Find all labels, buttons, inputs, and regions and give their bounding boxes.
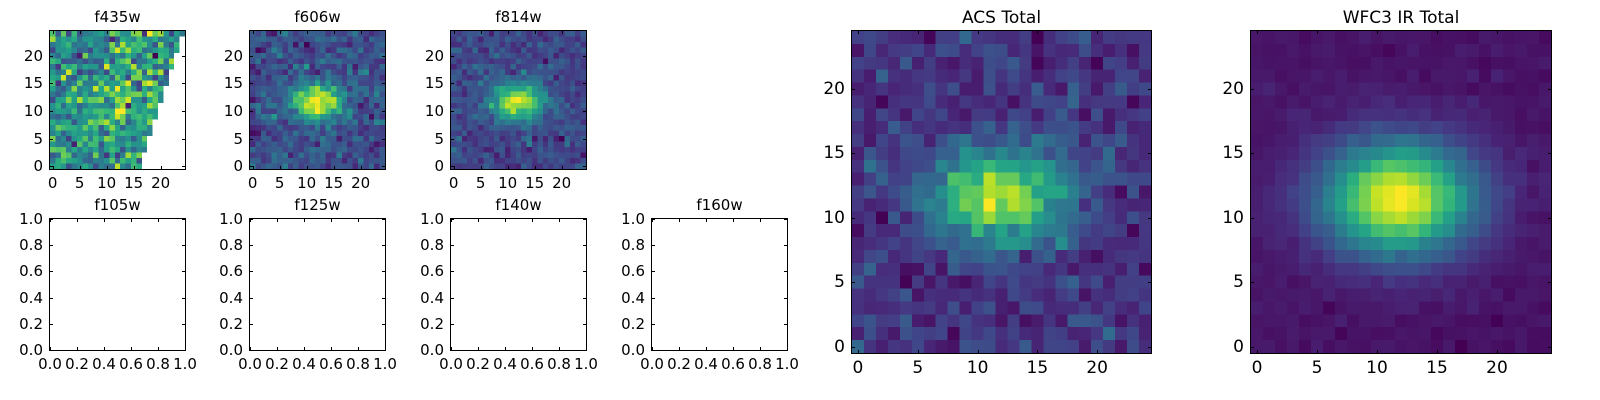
plot-area-f140w (450, 218, 587, 351)
y-tick (249, 245, 253, 246)
x-tick-top (858, 30, 859, 34)
y-tick-right (182, 298, 186, 299)
x-tick-top (1317, 30, 1318, 34)
y-tick (651, 350, 655, 351)
x-tick-label: 5 (1312, 358, 1323, 378)
y-tick-label: 0.4 (420, 289, 444, 307)
x-tick-top (1377, 30, 1378, 34)
x-tick-label: 0.2 (265, 355, 289, 373)
y-tick (651, 271, 655, 272)
y-tick-label: 0 (1233, 337, 1244, 357)
x-tick (559, 347, 560, 351)
y-tick (249, 271, 253, 272)
y-tick-label: 5 (834, 272, 845, 292)
y-tick (49, 298, 53, 299)
y-tick (450, 219, 454, 220)
x-tick (331, 347, 332, 351)
x-tick (505, 347, 506, 351)
panel-f140w: f140w0.00.20.40.60.81.00.00.20.40.60.81.… (404, 0, 587, 400)
y-tick (249, 324, 253, 325)
y-tick-label: 0.0 (420, 341, 444, 359)
x-tick-top (559, 218, 560, 222)
y-tick (651, 324, 655, 325)
y-tick-right (182, 324, 186, 325)
y-tick-right (583, 350, 587, 351)
y-tick (1250, 347, 1254, 348)
x-tick-label: 0.6 (721, 355, 745, 373)
y-tick-right (784, 219, 788, 220)
y-tick-label: 0.4 (19, 289, 43, 307)
y-tick (49, 350, 53, 351)
y-tick-label: 0.0 (219, 341, 243, 359)
y-tick-right (182, 271, 186, 272)
x-tick (104, 347, 105, 351)
x-tick-label: 0.4 (292, 355, 316, 373)
x-tick-top (478, 218, 479, 222)
y-tick-right (1148, 218, 1152, 219)
y-tick-label: 0.2 (219, 315, 243, 333)
x-tick-label: 0.4 (92, 355, 116, 373)
x-tick (358, 347, 359, 351)
y-tick-label: 0.8 (420, 236, 444, 254)
y-tick-right (1548, 89, 1552, 90)
y-tick-right (583, 219, 587, 220)
x-tick (1037, 350, 1038, 354)
x-tick-top (358, 218, 359, 222)
x-tick-top (1497, 30, 1498, 34)
y-tick-right (382, 324, 386, 325)
y-tick (1250, 218, 1254, 219)
y-tick-label: 0.0 (19, 341, 43, 359)
plot-area-f160w (651, 218, 788, 351)
x-tick-label: 0.6 (319, 355, 343, 373)
figure-canvas: f435w0510152005101520f606w05101520051015… (0, 0, 1600, 400)
heatmap-image (852, 31, 1151, 353)
x-tick (1437, 350, 1438, 354)
y-tick-right (784, 350, 788, 351)
x-tick (478, 347, 479, 351)
x-tick (760, 347, 761, 351)
y-tick-label: 0.6 (621, 262, 645, 280)
y-tick-right (382, 219, 386, 220)
x-tick-label: 10 (967, 358, 989, 378)
x-tick (978, 350, 979, 354)
y-tick (1250, 153, 1254, 154)
x-tick-label: 1.0 (173, 355, 197, 373)
x-tick-label: 0.8 (547, 355, 571, 373)
panel-title: f125w (249, 196, 386, 214)
x-tick-top (1437, 30, 1438, 34)
x-tick-label: 0.4 (493, 355, 517, 373)
y-tick (851, 89, 855, 90)
x-tick (1497, 350, 1498, 354)
y-tick-label: 0.0 (621, 341, 645, 359)
x-tick-top (505, 218, 506, 222)
y-tick-right (583, 271, 587, 272)
y-tick-label: 0.8 (19, 236, 43, 254)
y-tick-label: 1.0 (219, 210, 243, 228)
y-tick (851, 347, 855, 348)
x-tick (679, 347, 680, 351)
y-tick (249, 219, 253, 220)
y-tick-label: 0.8 (219, 236, 243, 254)
y-tick-label: 0.2 (621, 315, 645, 333)
y-tick-label: 0.8 (621, 236, 645, 254)
x-tick-label: 0 (1252, 358, 1263, 378)
y-tick (851, 153, 855, 154)
y-tick-right (784, 271, 788, 272)
x-tick-label: 0.6 (520, 355, 544, 373)
x-tick-top (1037, 30, 1038, 34)
y-tick (49, 219, 53, 220)
x-tick-top (77, 218, 78, 222)
x-tick-label: 0.8 (748, 355, 772, 373)
y-tick-label: 0.6 (420, 262, 444, 280)
y-tick-label: 5 (1233, 272, 1244, 292)
y-tick-label: 0.6 (219, 262, 243, 280)
panel-title: f140w (450, 196, 587, 214)
y-tick-right (1148, 89, 1152, 90)
y-tick (450, 350, 454, 351)
x-tick-label: 15 (1027, 358, 1049, 378)
x-tick-label: 1.0 (775, 355, 799, 373)
y-tick (450, 245, 454, 246)
y-tick-right (1148, 282, 1152, 283)
panel-f160w: f160w0.00.20.40.60.81.00.00.20.40.60.81.… (605, 0, 788, 400)
x-tick-top (304, 218, 305, 222)
y-tick (49, 324, 53, 325)
x-tick-label: 20 (1486, 358, 1508, 378)
y-tick-label: 0.4 (621, 289, 645, 307)
y-tick (1250, 89, 1254, 90)
y-tick-right (382, 271, 386, 272)
y-tick (651, 245, 655, 246)
y-tick-right (182, 350, 186, 351)
panel-acs-total: ACS Total0510152005101520 (805, 0, 1152, 400)
y-tick-label: 0.2 (420, 315, 444, 333)
y-tick-right (182, 219, 186, 220)
y-tick-right (784, 324, 788, 325)
x-tick-top (104, 218, 105, 222)
y-tick-right (784, 298, 788, 299)
y-tick-right (1548, 282, 1552, 283)
x-tick-top (733, 218, 734, 222)
y-tick (450, 271, 454, 272)
panel-f125w: f125w0.00.20.40.60.81.00.00.20.40.60.81.… (203, 0, 386, 400)
x-tick-label: 10 (1366, 358, 1388, 378)
x-tick-label: 0.2 (466, 355, 490, 373)
x-tick-top (277, 218, 278, 222)
y-tick-label: 15 (1222, 143, 1244, 163)
y-tick-label: 1.0 (19, 210, 43, 228)
x-tick-top (532, 218, 533, 222)
y-tick (450, 324, 454, 325)
y-tick-right (583, 245, 587, 246)
y-tick-label: 10 (1222, 208, 1244, 228)
x-tick-top (331, 218, 332, 222)
x-tick-label: 1.0 (373, 355, 397, 373)
x-tick-label: 0.8 (146, 355, 170, 373)
x-tick-label: 1.0 (574, 355, 598, 373)
x-tick-label: 0 (853, 358, 864, 378)
panel-title: f105w (49, 196, 186, 214)
panel-f105w: f105w0.00.20.40.60.81.00.00.20.40.60.81.… (3, 0, 186, 400)
y-tick (450, 298, 454, 299)
y-tick-right (583, 324, 587, 325)
x-tick (706, 347, 707, 351)
y-tick-label: 0 (834, 337, 845, 357)
x-tick (733, 347, 734, 351)
x-tick (1257, 350, 1258, 354)
panel-title: f160w (651, 196, 788, 214)
x-tick-top (760, 218, 761, 222)
y-tick-right (1548, 153, 1552, 154)
x-tick-label: 0.2 (65, 355, 89, 373)
y-tick-label: 0.2 (19, 315, 43, 333)
y-tick-right (1148, 347, 1152, 348)
x-tick (1377, 350, 1378, 354)
y-tick-right (1148, 153, 1152, 154)
x-tick-top (158, 218, 159, 222)
y-tick-label: 20 (823, 79, 845, 99)
y-tick-label: 0.6 (19, 262, 43, 280)
x-tick-label: 20 (1086, 358, 1108, 378)
x-tick-top (978, 30, 979, 34)
y-tick (651, 219, 655, 220)
x-tick-top (679, 218, 680, 222)
y-tick-right (1548, 218, 1552, 219)
x-tick (131, 347, 132, 351)
y-tick-label: 1.0 (621, 210, 645, 228)
x-tick (277, 347, 278, 351)
y-tick (851, 282, 855, 283)
plot-area-acs-total (851, 30, 1152, 354)
panel-title: WFC3 IR Total (1250, 8, 1552, 28)
y-tick-label: 20 (1222, 79, 1244, 99)
y-tick-right (382, 245, 386, 246)
x-tick (532, 347, 533, 351)
x-tick (858, 350, 859, 354)
x-tick-label: 0.6 (119, 355, 143, 373)
x-tick-label: 0.2 (667, 355, 691, 373)
y-tick (49, 245, 53, 246)
plot-area-wfc3-ir-total (1250, 30, 1552, 354)
x-tick (1097, 350, 1098, 354)
y-tick (49, 271, 53, 272)
panel-wfc3-ir-total: WFC3 IR Total0510152005101520 (1204, 0, 1552, 400)
y-tick-label: 10 (823, 208, 845, 228)
x-tick-label: 5 (912, 358, 923, 378)
y-tick (851, 218, 855, 219)
x-tick-label: 0.8 (346, 355, 370, 373)
y-tick-label: 1.0 (420, 210, 444, 228)
x-tick (918, 350, 919, 354)
x-tick-top (1257, 30, 1258, 34)
heatmap-image (1251, 31, 1551, 353)
x-tick (158, 347, 159, 351)
x-tick-top (1097, 30, 1098, 34)
y-tick (1250, 282, 1254, 283)
x-tick (77, 347, 78, 351)
x-tick (1317, 350, 1318, 354)
y-tick-label: 15 (823, 143, 845, 163)
panel-title: ACS Total (851, 8, 1152, 28)
x-tick-label: 0.4 (694, 355, 718, 373)
y-tick (249, 350, 253, 351)
y-tick-right (182, 245, 186, 246)
x-tick-top (131, 218, 132, 222)
plot-area-f125w (249, 218, 386, 351)
y-tick-right (583, 298, 587, 299)
x-tick (304, 347, 305, 351)
x-tick-top (706, 218, 707, 222)
plot-area-f105w (49, 218, 186, 351)
y-tick-right (382, 298, 386, 299)
x-tick-top (918, 30, 919, 34)
y-tick (249, 298, 253, 299)
y-tick-right (382, 350, 386, 351)
x-tick-label: 15 (1426, 358, 1448, 378)
y-tick-label: 0.4 (219, 289, 243, 307)
y-tick-right (784, 245, 788, 246)
y-tick (651, 298, 655, 299)
y-tick-right (1548, 347, 1552, 348)
